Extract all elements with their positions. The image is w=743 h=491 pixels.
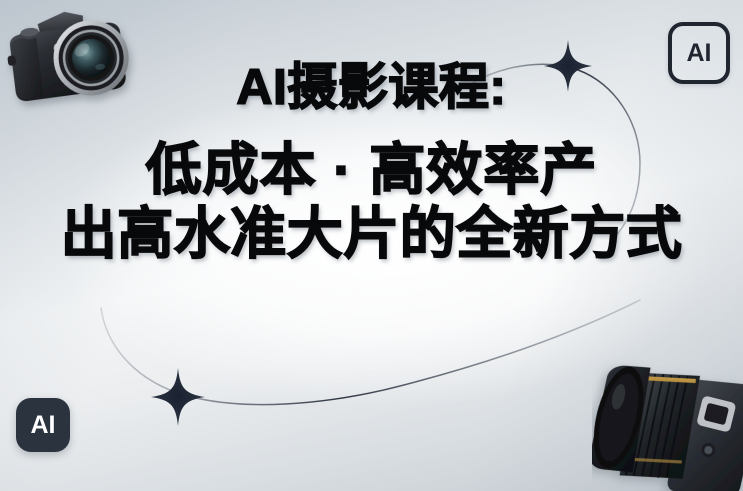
- headline-line-3: 出高水准大片的全新方式: [61, 206, 683, 262]
- ai-badge-solid-label: AI: [31, 411, 56, 440]
- ai-badge-solid: AI: [16, 398, 70, 452]
- ai-badge-outline: AI: [668, 22, 730, 84]
- sparkle-bottom-icon: [151, 368, 205, 426]
- camera-bottom-right: [592, 348, 743, 491]
- headline-line-2: 低成本 · 高效率产: [146, 142, 598, 198]
- headline-line-1: AI摄影课程:: [236, 62, 506, 112]
- promo-poster: AI摄影课程: 低成本 · 高效率产 出高水准大片的全新方式 AI AI: [0, 0, 743, 491]
- headline-block: AI摄影课程: 低成本 · 高效率产 出高水准大片的全新方式: [0, 62, 743, 262]
- ai-badge-outline-label: AI: [687, 39, 712, 68]
